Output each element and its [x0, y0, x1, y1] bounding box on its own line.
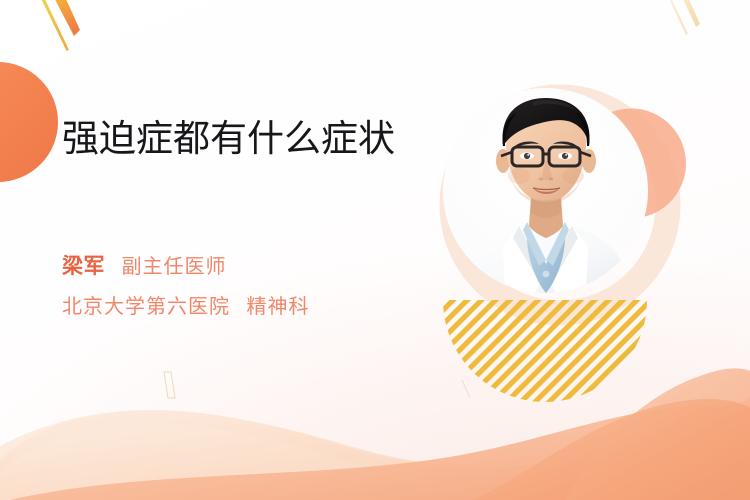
doctor-credentials-line: 梁军 副主任医师	[62, 250, 226, 280]
doctor-title: 副主任医师	[121, 256, 226, 278]
thin-outline-stroke-mid	[462, 380, 470, 398]
thin-outline-stroke-left	[164, 372, 175, 398]
doctor-department: 精神科	[246, 296, 309, 318]
diagonal-stripe-faint-2	[664, 0, 688, 35]
video-cover-card: 强迫症都有什么症状 梁军 副主任医师 北京大学第六医院 精神科	[0, 0, 750, 500]
doctor-name: 梁军	[62, 255, 105, 278]
doctor-affiliation-line: 北京大学第六医院 精神科	[62, 290, 309, 319]
orange-circle	[0, 62, 58, 182]
page-title: 强迫症都有什么症状	[62, 118, 414, 160]
doctor-hospital: 北京大学第六医院	[62, 296, 230, 318]
headline-block: 强迫症都有什么症状	[62, 118, 414, 160]
